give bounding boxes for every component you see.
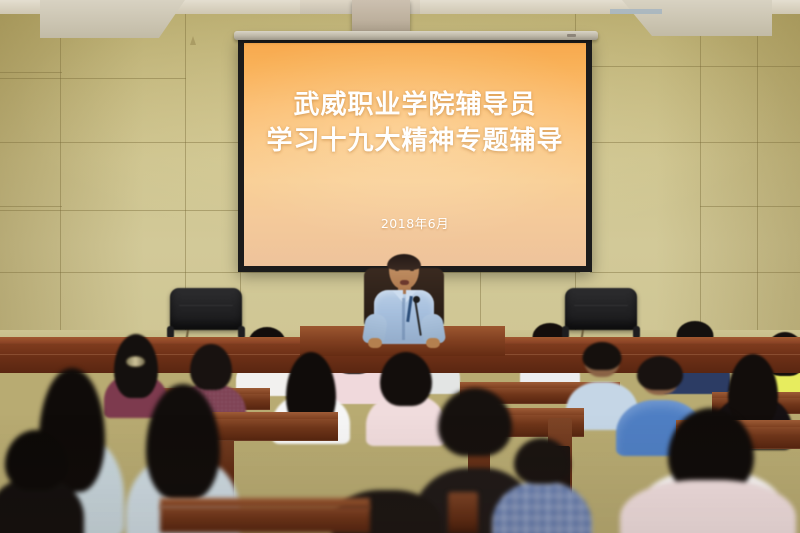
panel-seam-horizontal	[0, 272, 240, 273]
presenter-hand-left	[368, 338, 382, 348]
panel-seam-vertical	[757, 10, 758, 345]
chair-backrest	[565, 288, 637, 330]
hair-clip	[126, 356, 145, 367]
bench-desk	[160, 506, 370, 533]
presenter-hand-right	[426, 338, 440, 348]
lecture-hall-photo: 武威职业学院辅导员 学习十九大精神专题辅导 2018年6月	[0, 0, 800, 533]
presenter-mouth	[400, 280, 409, 285]
attendee-hair	[637, 356, 683, 390]
panel-seam-horizontal	[0, 78, 186, 79]
list-item	[0, 430, 84, 533]
attendee-hair	[146, 384, 220, 500]
slide-title-line-1: 武威职业学院辅导员	[244, 87, 586, 124]
panel-seam-vertical	[60, 10, 61, 345]
projected-slide: 武威职业学院辅导员 学习十九大精神专题辅导 2018年6月	[244, 43, 586, 266]
microphone-head	[413, 296, 420, 303]
attendee-hair	[514, 438, 570, 484]
screen-pull-nub[interactable]	[567, 34, 576, 37]
slide-title-line-2: 学习十九大精神专题辅导	[244, 123, 586, 160]
panel-seam-horizontal	[575, 66, 800, 67]
panel-seam-horizontal	[0, 72, 62, 73]
presenter-shirt-placket	[402, 298, 405, 340]
presenter-eye-left	[395, 269, 399, 271]
projection-screen: 武威职业学院辅导员 学习十九大精神专题辅导 2018年6月	[238, 38, 592, 272]
panel-seam-horizontal	[0, 206, 62, 207]
panel-seam-horizontal	[0, 210, 240, 211]
projector-lens	[610, 9, 662, 14]
presenter	[356, 256, 452, 348]
panel-seam-horizontal	[590, 272, 800, 273]
panel-seam-vertical	[700, 10, 701, 345]
attendee-hair	[5, 430, 67, 490]
panel-seam-horizontal	[700, 206, 800, 207]
screen-roller-housing[interactable]	[234, 31, 598, 40]
chair-backrest	[170, 288, 242, 330]
presenter-hair	[387, 254, 421, 270]
attendee-body	[620, 480, 796, 533]
panel-seam-horizontal	[0, 142, 240, 143]
attendee-body	[492, 482, 592, 533]
ceiling-projector	[352, 0, 410, 34]
list-item	[620, 470, 796, 533]
slide-date: 2018年6月	[244, 213, 586, 232]
seat-back	[448, 492, 478, 533]
presenter-eye-right	[410, 269, 414, 271]
list-item	[492, 438, 592, 533]
panel-seam-horizontal	[590, 142, 800, 143]
